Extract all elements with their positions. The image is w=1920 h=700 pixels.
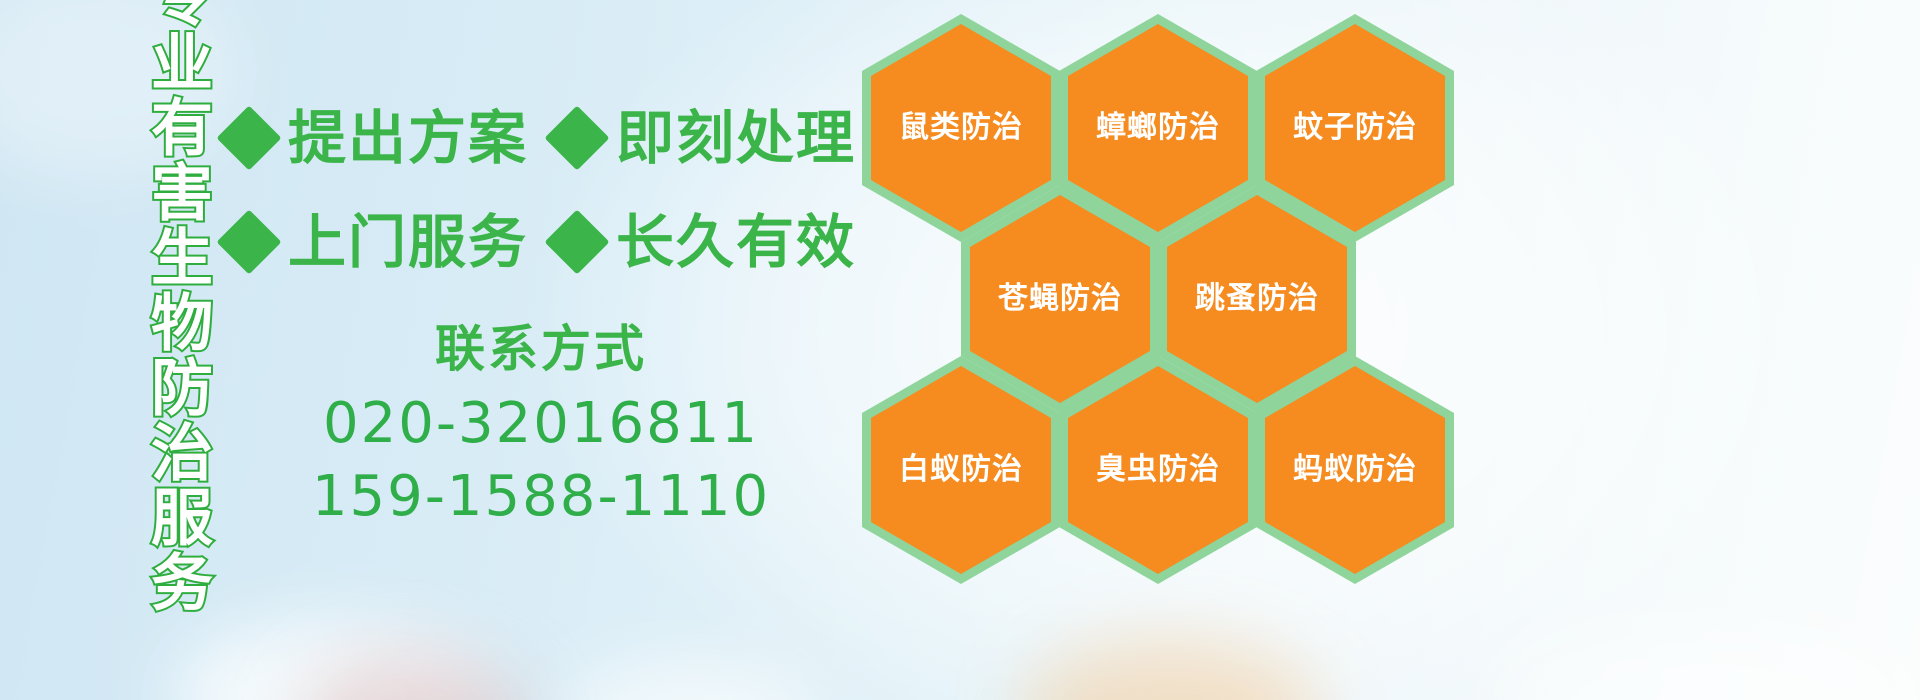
phone-number-landline[interactable]: 020-32016811	[236, 387, 846, 461]
service-hex-ant[interactable]: 蚂蚁防治	[1256, 356, 1454, 584]
phone-number-mobile[interactable]: 159-1588-1110	[236, 460, 846, 534]
service-label: 臭虫防治	[1096, 455, 1220, 485]
feature-item: 上门服务	[226, 213, 528, 271]
service-label: 蚂蚁防治	[1293, 455, 1417, 485]
service-label: 鼠类防治	[899, 113, 1023, 143]
background-blob	[560, 660, 820, 700]
feature-list: 提出方案 即刻处理 上门服务 长久有效	[226, 86, 866, 294]
vertical-headline: 专业有害生物防治服务	[104, 10, 208, 570]
feature-item: 提出方案	[226, 109, 528, 167]
feature-label: 即刻处理	[616, 109, 856, 167]
background-blob	[1020, 640, 1320, 700]
background-blob	[1500, 620, 1920, 700]
feature-label: 上门服务	[288, 213, 528, 271]
service-honeycomb: 鼠类防治 蟑螂防治 蚊子防治 苍蝇防治 跳蚤防治	[862, 6, 1462, 566]
service-label: 蚊子防治	[1293, 113, 1417, 143]
diamond-bullet-icon	[216, 105, 281, 170]
banner-root: 专业有害生物防治服务 提出方案 即刻处理 上门服务 长久有效	[0, 0, 1920, 700]
service-hex-bedbug[interactable]: 臭虫防治	[1059, 356, 1257, 584]
feature-row: 上门服务 长久有效	[226, 190, 866, 294]
diamond-bullet-icon	[544, 209, 609, 274]
feature-label: 提出方案	[288, 109, 528, 167]
service-label: 蟑螂防治	[1096, 113, 1220, 143]
feature-item: 即刻处理	[554, 109, 856, 167]
diamond-bullet-icon	[544, 105, 609, 170]
feature-label: 长久有效	[616, 213, 856, 271]
feature-row: 提出方案 即刻处理	[226, 86, 866, 190]
background-blob	[300, 655, 530, 700]
service-hex-termite[interactable]: 白蚁防治	[862, 356, 1060, 584]
contact-block: 联系方式 020-32016811 159-1588-1110	[236, 318, 846, 534]
service-label: 白蚁防治	[899, 455, 1023, 485]
feature-item: 长久有效	[554, 213, 856, 271]
diamond-bullet-icon	[216, 209, 281, 274]
service-label: 跳蚤防治	[1195, 284, 1319, 314]
background-blob	[170, 620, 490, 700]
service-label: 苍蝇防治	[998, 284, 1122, 314]
contact-title: 联系方式	[236, 318, 846, 381]
